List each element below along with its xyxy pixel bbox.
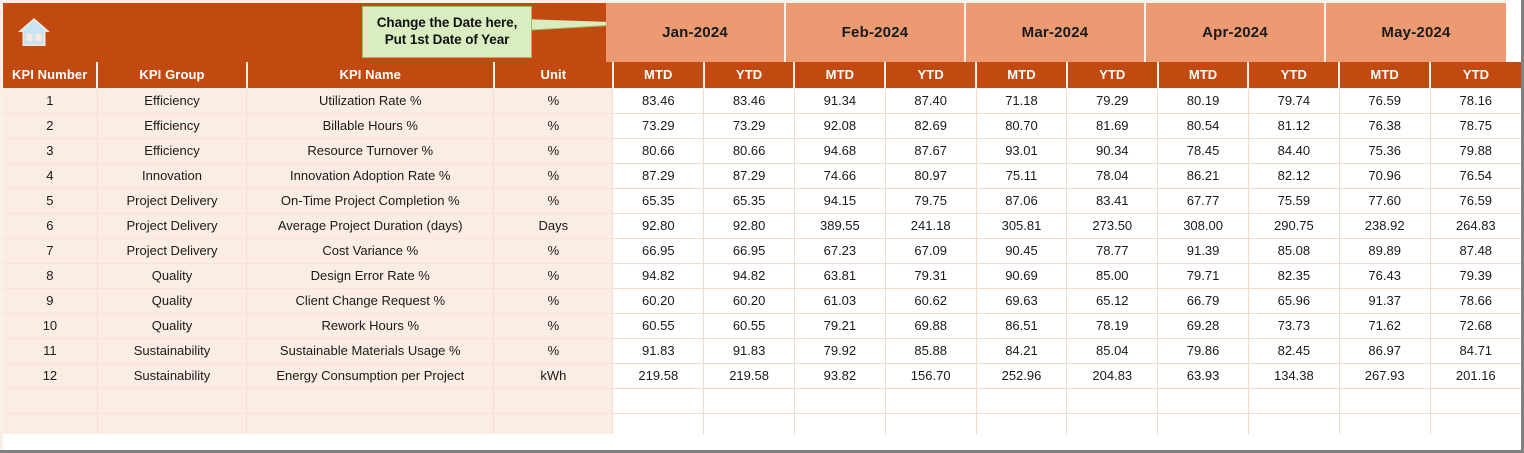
cell-mar-2024-mtd[interactable]: 71.18 (976, 88, 1067, 113)
cell-feb-2024-ytd[interactable]: 241.18 (885, 213, 976, 238)
cell-kpi-group[interactable]: Quality (97, 288, 246, 313)
month-header-feb-2024[interactable]: Feb-2024 (786, 3, 966, 62)
cell-feb-2024-ytd[interactable] (885, 388, 976, 413)
cell-jan-2024-ytd[interactable]: 60.20 (704, 288, 795, 313)
cell-kpi-unit[interactable]: % (494, 113, 613, 138)
col-header-unit[interactable]: Unit (494, 62, 613, 88)
cell-kpi-unit[interactable]: % (494, 263, 613, 288)
kpi-table: KPI NumberKPI GroupKPI NameUnitMTDYTDMTD… (0, 62, 1521, 439)
cell-jan-2024-ytd[interactable]: 66.95 (704, 238, 795, 263)
cell-may-2024-mtd[interactable]: 77.60 (1339, 188, 1430, 213)
cell-may-2024-mtd[interactable]: 238.92 (1339, 213, 1430, 238)
cell-jan-2024-mtd[interactable]: 60.55 (613, 313, 704, 338)
col-header-mar-2024-ytd[interactable]: YTD (1067, 62, 1158, 88)
cell-feb-2024-ytd[interactable]: 79.31 (885, 263, 976, 288)
cell-may-2024-ytd[interactable]: 78.75 (1430, 113, 1521, 138)
cell-jan-2024-ytd[interactable] (704, 388, 795, 413)
cell-may-2024-ytd[interactable]: 76.59 (1430, 188, 1521, 213)
cell-apr-2024-mtd[interactable]: 79.86 (1158, 338, 1249, 363)
table-row: 12SustainabilityEnergy Consumption per P… (2, 363, 1522, 388)
col-header-may-2024-mtd[interactable]: MTD (1339, 62, 1430, 88)
cell-mar-2024-ytd[interactable]: 90.34 (1067, 138, 1158, 163)
cell-kpi-name[interactable]: Cost Variance % (247, 238, 494, 263)
cell-mar-2024-ytd[interactable]: 78.77 (1067, 238, 1158, 263)
cell-apr-2024-mtd[interactable]: 69.28 (1158, 313, 1249, 338)
cell-apr-2024-mtd[interactable]: 79.71 (1158, 263, 1249, 288)
cell-apr-2024-ytd[interactable]: 73.73 (1248, 313, 1339, 338)
cell-kpi-unit[interactable]: % (494, 238, 613, 263)
cell-jan-2024-mtd[interactable]: 60.20 (613, 288, 704, 313)
cell-apr-2024-mtd[interactable]: 63.93 (1158, 363, 1249, 388)
cell-kpi-number[interactable]: 11 (2, 338, 98, 363)
cell-may-2024-mtd[interactable]: 70.96 (1339, 163, 1430, 188)
cell-apr-2024-mtd[interactable]: 66.79 (1158, 288, 1249, 313)
cell-feb-2024-ytd[interactable]: 79.75 (885, 188, 976, 213)
cell-kpi-number[interactable]: 6 (2, 213, 98, 238)
col-header-kpi-name[interactable]: KPI Name (247, 62, 494, 88)
cell-may-2024-ytd[interactable]: 264.83 (1430, 213, 1521, 238)
cell-kpi-name[interactable]: Resource Turnover % (247, 138, 494, 163)
col-header-may-2024-ytd[interactable]: YTD (1430, 62, 1521, 88)
col-header-mar-2024-mtd[interactable]: MTD (976, 62, 1067, 88)
cell-may-2024-mtd[interactable] (1339, 388, 1430, 413)
col-header-jan-2024-ytd[interactable]: YTD (704, 62, 795, 88)
cell-mar-2024-mtd[interactable]: 69.63 (976, 288, 1067, 313)
cell-apr-2024-ytd[interactable]: 134.38 (1248, 363, 1339, 388)
cell-feb-2024-ytd[interactable]: 156.70 (885, 363, 976, 388)
cell-kpi-name[interactable]: Energy Consumption per Project (247, 363, 494, 388)
cell-kpi-number[interactable] (2, 388, 98, 413)
cell-may-2024-mtd[interactable]: 76.38 (1339, 113, 1430, 138)
table-body: 1EfficiencyUtilization Rate %%83.4683.46… (2, 88, 1522, 438)
cell-may-2024-mtd[interactable]: 89.89 (1339, 238, 1430, 263)
cell-jan-2024-mtd[interactable]: 92.80 (613, 213, 704, 238)
cell-feb-2024-mtd[interactable]: 67.23 (794, 238, 885, 263)
cell-mar-2024-mtd[interactable]: 305.81 (976, 213, 1067, 238)
cell-kpi-unit[interactable]: % (494, 163, 613, 188)
cell-jan-2024-mtd[interactable]: 91.83 (613, 338, 704, 363)
table-row: 1EfficiencyUtilization Rate %%83.4683.46… (2, 88, 1522, 113)
cell-kpi-number[interactable]: 12 (2, 363, 98, 388)
cell-mar-2024-ytd[interactable]: 83.41 (1067, 188, 1158, 213)
month-header-apr-2024[interactable]: Apr-2024 (1146, 3, 1326, 62)
cell-jan-2024-mtd[interactable]: 87.29 (613, 163, 704, 188)
cell-mar-2024-mtd[interactable]: 84.21 (976, 338, 1067, 363)
table-row: 8QualityDesign Error Rate %%94.8294.8263… (2, 263, 1522, 288)
cell-jan-2024-ytd[interactable]: 80.66 (704, 138, 795, 163)
cell-jan-2024-mtd[interactable]: 73.29 (613, 113, 704, 138)
cell-kpi-unit[interactable]: % (494, 88, 613, 113)
cell-mar-2024-mtd[interactable]: 80.70 (976, 113, 1067, 138)
cell-mar-2024-ytd[interactable] (1067, 388, 1158, 413)
month-header-mar-2024[interactable]: Mar-2024 (966, 3, 1146, 62)
cell-kpi-number[interactable]: 2 (2, 113, 98, 138)
cell-kpi-group[interactable]: Quality (97, 263, 246, 288)
cell-feb-2024-ytd[interactable]: 87.40 (885, 88, 976, 113)
cell-may-2024-mtd[interactable]: 71.62 (1339, 313, 1430, 338)
title-banner (0, 0, 606, 62)
table-row: 10QualityRework Hours %%60.5560.5579.216… (2, 313, 1522, 338)
cell-kpi-name[interactable]: On-Time Project Completion % (247, 188, 494, 213)
cell-mar-2024-ytd[interactable]: 78.19 (1067, 313, 1158, 338)
cell-apr-2024-ytd[interactable]: 290.75 (1248, 213, 1339, 238)
cell-apr-2024-ytd[interactable]: 65.96 (1248, 288, 1339, 313)
cell-kpi-name[interactable]: Sustainable Materials Usage % (247, 338, 494, 363)
cell-mar-2024-ytd[interactable]: 81.69 (1067, 113, 1158, 138)
cell-kpi-number[interactable]: 7 (2, 238, 98, 263)
cell-apr-2024-mtd[interactable]: 78.45 (1158, 138, 1249, 163)
cell-jan-2024-ytd[interactable]: 219.58 (704, 363, 795, 388)
table-row: 3EfficiencyResource Turnover %%80.6680.6… (2, 138, 1522, 163)
table-row: 9QualityClient Change Request %%60.2060.… (2, 288, 1522, 313)
cell-mar-2024-ytd[interactable]: 78.04 (1067, 163, 1158, 188)
cell-feb-2024-ytd[interactable]: 67.09 (885, 238, 976, 263)
cell-feb-2024-mtd[interactable]: 91.34 (794, 88, 885, 113)
cell-kpi-unit[interactable]: Days (494, 213, 613, 238)
cell-jan-2024-mtd[interactable]: 66.95 (613, 238, 704, 263)
table-row: 4InnovationInnovation Adoption Rate %%87… (2, 163, 1522, 188)
cell-feb-2024-mtd[interactable]: 74.66 (794, 163, 885, 188)
cell-apr-2024-mtd[interactable]: 80.19 (1158, 88, 1249, 113)
cell-kpi-name[interactable]: Design Error Rate % (247, 263, 494, 288)
cell-kpi-name[interactable]: Average Project Duration (days) (247, 213, 494, 238)
cell-mar-2024-mtd[interactable]: 90.45 (976, 238, 1067, 263)
cell-kpi-unit[interactable]: % (494, 288, 613, 313)
cell-mar-2024-ytd[interactable]: 85.00 (1067, 263, 1158, 288)
cell-apr-2024-mtd[interactable]: 308.00 (1158, 213, 1249, 238)
cell-jan-2024-ytd[interactable]: 94.82 (704, 263, 795, 288)
table-row: 5Project DeliveryOn-Time Project Complet… (2, 188, 1522, 213)
cell-feb-2024-ytd[interactable]: 60.62 (885, 288, 976, 313)
cell-kpi-group[interactable]: Efficiency (97, 138, 246, 163)
cell-jan-2024-mtd[interactable]: 65.35 (613, 188, 704, 213)
cell-kpi-group[interactable]: Project Delivery (97, 188, 246, 213)
cell-mar-2024-mtd[interactable]: 87.06 (976, 188, 1067, 213)
cell-may-2024-ytd[interactable]: 78.16 (1430, 88, 1521, 113)
cell-kpi-unit[interactable]: % (494, 188, 613, 213)
cell-apr-2024-mtd[interactable]: 67.77 (1158, 188, 1249, 213)
cell-kpi-group[interactable]: Sustainability (97, 363, 246, 388)
cell-mar-2024-mtd[interactable]: 86.51 (976, 313, 1067, 338)
cell-kpi-unit[interactable]: % (494, 138, 613, 163)
table-row: 6Project DeliveryAverage Project Duratio… (2, 213, 1522, 238)
cell-kpi-unit[interactable]: kWh (494, 363, 613, 388)
cell-jan-2024-mtd[interactable]: 80.66 (613, 138, 704, 163)
cell-feb-2024-ytd[interactable]: 80.97 (885, 163, 976, 188)
cell-may-2024-ytd[interactable]: 201.16 (1430, 363, 1521, 388)
cell-feb-2024-mtd[interactable]: 63.81 (794, 263, 885, 288)
table-row: 11SustainabilitySustainable Materials Us… (2, 338, 1522, 363)
cell-may-2024-mtd[interactable]: 76.59 (1339, 88, 1430, 113)
month-header-may-2024[interactable]: May-2024 (1326, 3, 1506, 62)
col-header-feb-2024-mtd[interactable]: MTD (794, 62, 885, 88)
cell-jan-2024-ytd[interactable]: 83.46 (704, 88, 795, 113)
cell-feb-2024-mtd[interactable]: 92.08 (794, 113, 885, 138)
cell-kpi-number[interactable]: 9 (2, 288, 98, 313)
cell-may-2024-ytd[interactable] (1430, 388, 1521, 413)
cell-feb-2024-mtd[interactable]: 61.03 (794, 288, 885, 313)
cell-kpi-name[interactable]: Client Change Request % (247, 288, 494, 313)
col-header-kpi-number[interactable]: KPI Number (2, 62, 98, 88)
month-header-strip: Jan-2024Feb-2024Mar-2024Apr-2024May-2024 (606, 0, 1506, 62)
cell-may-2024-mtd[interactable]: 86.97 (1339, 338, 1430, 363)
cell-may-2024-ytd[interactable]: 79.88 (1430, 138, 1521, 163)
cell-feb-2024-mtd[interactable] (794, 388, 885, 413)
cell-apr-2024-ytd[interactable]: 75.59 (1248, 188, 1339, 213)
cell-kpi-group[interactable]: Project Delivery (97, 213, 246, 238)
col-header-kpi-group[interactable]: KPI Group (97, 62, 246, 88)
cell-jan-2024-mtd[interactable]: 94.82 (613, 263, 704, 288)
table-row: 2EfficiencyBillable Hours %%73.2973.2992… (2, 113, 1522, 138)
cell-feb-2024-mtd[interactable]: 389.55 (794, 213, 885, 238)
cell-jan-2024-ytd[interactable]: 91.83 (704, 338, 795, 363)
cell-may-2024-ytd[interactable]: 78.66 (1430, 288, 1521, 313)
cell-may-2024-ytd[interactable]: 72.68 (1430, 313, 1521, 338)
cell-may-2024-mtd[interactable]: 91.37 (1339, 288, 1430, 313)
cell-kpi-name[interactable]: Rework Hours % (247, 313, 494, 338)
col-header-apr-2024-mtd[interactable]: MTD (1158, 62, 1249, 88)
cell-may-2024-ytd[interactable]: 79.39 (1430, 263, 1521, 288)
cell-apr-2024-ytd[interactable]: 84.40 (1248, 138, 1339, 163)
cell-jan-2024-ytd[interactable]: 65.35 (704, 188, 795, 213)
cell-feb-2024-mtd[interactable]: 79.21 (794, 313, 885, 338)
cell-kpi-number[interactable]: 4 (2, 163, 98, 188)
cell-apr-2024-ytd[interactable]: 82.45 (1248, 338, 1339, 363)
spreadsheet-canvas: Change the Date here, Put 1st Date of Ye… (0, 0, 1524, 453)
cell-mar-2024-ytd[interactable]: 65.12 (1067, 288, 1158, 313)
cell-jan-2024-ytd[interactable]: 73.29 (704, 113, 795, 138)
cell-apr-2024-ytd[interactable] (1248, 388, 1339, 413)
cell-kpi-group[interactable] (97, 388, 246, 413)
cell-may-2024-ytd[interactable]: 84.71 (1430, 338, 1521, 363)
cell-kpi-name[interactable] (247, 388, 494, 413)
cell-kpi-name[interactable]: Innovation Adoption Rate % (247, 163, 494, 188)
cell-feb-2024-ytd[interactable]: 69.88 (885, 313, 976, 338)
cell-mar-2024-mtd[interactable]: 90.69 (976, 263, 1067, 288)
cell-feb-2024-mtd[interactable]: 94.15 (794, 188, 885, 213)
cell-feb-2024-ytd[interactable]: 87.67 (885, 138, 976, 163)
cell-jan-2024-ytd[interactable]: 87.29 (704, 163, 795, 188)
table-row (2, 388, 1522, 413)
table-row: 7Project DeliveryCost Variance %%66.9566… (2, 238, 1522, 263)
cell-mar-2024-ytd[interactable]: 204.83 (1067, 363, 1158, 388)
cell-feb-2024-mtd[interactable]: 79.92 (794, 338, 885, 363)
col-header-apr-2024-ytd[interactable]: YTD (1248, 62, 1339, 88)
cell-apr-2024-mtd[interactable]: 80.54 (1158, 113, 1249, 138)
cell-feb-2024-ytd[interactable]: 82.69 (885, 113, 976, 138)
cell-kpi-number[interactable]: 10 (2, 313, 98, 338)
month-header-jan-2024[interactable]: Jan-2024 (606, 3, 786, 62)
cell-kpi-group[interactable]: Quality (97, 313, 246, 338)
col-header-jan-2024-mtd[interactable]: MTD (613, 62, 704, 88)
cell-may-2024-mtd[interactable]: 75.36 (1339, 138, 1430, 163)
cell-jan-2024-ytd[interactable]: 92.80 (704, 213, 795, 238)
cell-apr-2024-ytd[interactable]: 85.08 (1248, 238, 1339, 263)
cell-kpi-unit[interactable]: % (494, 338, 613, 363)
cell-mar-2024-mtd[interactable]: 93.01 (976, 138, 1067, 163)
cell-kpi-group[interactable]: Efficiency (97, 88, 246, 113)
cell-mar-2024-mtd[interactable]: 75.11 (976, 163, 1067, 188)
cell-kpi-name[interactable]: Billable Hours % (247, 113, 494, 138)
cell-mar-2024-ytd[interactable]: 273.50 (1067, 213, 1158, 238)
cell-apr-2024-ytd[interactable]: 81.12 (1248, 113, 1339, 138)
cell-kpi-group[interactable]: Sustainability (97, 338, 246, 363)
cell-apr-2024-ytd[interactable]: 82.35 (1248, 263, 1339, 288)
cell-kpi-group[interactable]: Efficiency (97, 113, 246, 138)
cell-jan-2024-mtd[interactable]: 83.46 (613, 88, 704, 113)
bottom-filler (0, 434, 1524, 450)
cell-mar-2024-ytd[interactable]: 79.29 (1067, 88, 1158, 113)
cell-may-2024-ytd[interactable]: 76.54 (1430, 163, 1521, 188)
cell-apr-2024-mtd[interactable]: 86.21 (1158, 163, 1249, 188)
cell-kpi-unit[interactable] (494, 388, 613, 413)
cell-may-2024-mtd[interactable]: 76.43 (1339, 263, 1430, 288)
cell-mar-2024-ytd[interactable]: 85.04 (1067, 338, 1158, 363)
cell-kpi-unit[interactable]: % (494, 313, 613, 338)
cell-apr-2024-mtd[interactable]: 91.39 (1158, 238, 1249, 263)
cell-apr-2024-ytd[interactable]: 79.74 (1248, 88, 1339, 113)
cell-mar-2024-mtd[interactable] (976, 388, 1067, 413)
cell-kpi-name[interactable]: Utilization Rate % (247, 88, 494, 113)
cell-may-2024-ytd[interactable]: 87.48 (1430, 238, 1521, 263)
col-header-feb-2024-ytd[interactable]: YTD (885, 62, 976, 88)
cell-kpi-number[interactable]: 8 (2, 263, 98, 288)
cell-jan-2024-mtd[interactable] (613, 388, 704, 413)
cell-apr-2024-ytd[interactable]: 82.12 (1248, 163, 1339, 188)
cell-apr-2024-mtd[interactable] (1158, 388, 1249, 413)
cell-feb-2024-ytd[interactable]: 85.88 (885, 338, 976, 363)
cell-may-2024-mtd[interactable]: 267.93 (1339, 363, 1430, 388)
cell-kpi-number[interactable]: 1 (2, 88, 98, 113)
cell-kpi-group[interactable]: Innovation (97, 163, 246, 188)
cell-kpi-number[interactable]: 3 (2, 138, 98, 163)
cell-kpi-group[interactable]: Project Delivery (97, 238, 246, 263)
cell-jan-2024-ytd[interactable]: 60.55 (704, 313, 795, 338)
cell-kpi-number[interactable]: 5 (2, 188, 98, 213)
table-header-row: KPI NumberKPI GroupKPI NameUnitMTDYTDMTD… (2, 62, 1522, 88)
home-icon[interactable] (12, 11, 56, 53)
cell-mar-2024-mtd[interactable]: 252.96 (976, 363, 1067, 388)
cell-jan-2024-mtd[interactable]: 219.58 (613, 363, 704, 388)
cell-feb-2024-mtd[interactable]: 94.68 (794, 138, 885, 163)
cell-feb-2024-mtd[interactable]: 93.82 (794, 363, 885, 388)
